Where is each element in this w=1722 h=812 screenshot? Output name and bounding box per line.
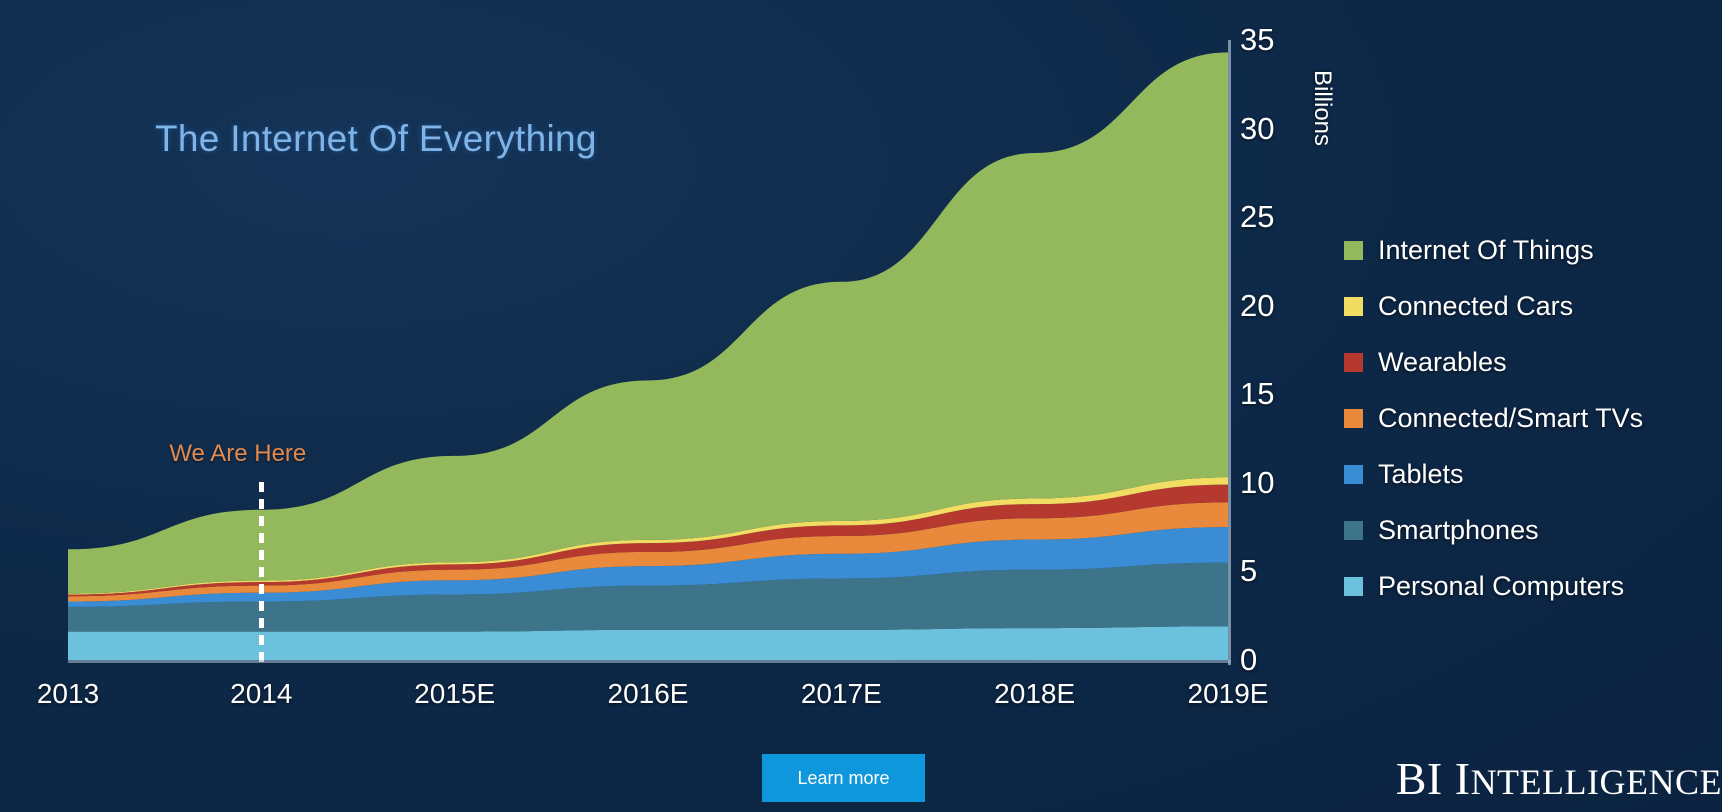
legend-item-wearables[interactable]: Wearables bbox=[1344, 334, 1714, 390]
legend-item-label: Connected/Smart TVs bbox=[1378, 403, 1643, 434]
legend-swatch-icon bbox=[1344, 577, 1363, 596]
legend-swatch-icon bbox=[1344, 521, 1363, 540]
legend-item-tablets[interactable]: Tablets bbox=[1344, 446, 1714, 502]
y-axis-tick-30: 30 bbox=[1240, 113, 1274, 144]
brand-name: NTELLIGENCE bbox=[1471, 762, 1722, 802]
legend-item-label: Tablets bbox=[1378, 459, 1464, 490]
legend-item-label: Internet Of Things bbox=[1378, 235, 1594, 266]
brand-logo: BI INTELLIGENCE bbox=[1396, 752, 1722, 805]
plot-area bbox=[68, 10, 1228, 662]
y-axis-tick-15: 15 bbox=[1240, 378, 1274, 409]
chart-legend: Internet Of ThingsConnected CarsWearable… bbox=[1344, 222, 1714, 614]
learn-more-button[interactable]: Learn more bbox=[762, 754, 925, 802]
we-are-here-marker-line bbox=[259, 482, 264, 667]
legend-item-smartphones[interactable]: Smartphones bbox=[1344, 502, 1714, 558]
legend-item-label: Smartphones bbox=[1378, 515, 1539, 546]
legend-item-label: Personal Computers bbox=[1378, 571, 1624, 602]
y-axis-tick-20: 20 bbox=[1240, 290, 1274, 321]
y-axis-tick-25: 25 bbox=[1240, 201, 1274, 232]
x-axis-tick-2014: 2014 bbox=[230, 678, 292, 710]
legend-item-label: Wearables bbox=[1378, 347, 1507, 378]
legend-item-connected-smart-tvs[interactable]: Connected/Smart TVs bbox=[1344, 390, 1714, 446]
chart-canvas: The Internet Of Everything We Are Here 0… bbox=[0, 0, 1722, 812]
y-axis-tick-5: 5 bbox=[1240, 555, 1257, 586]
y-axis-tick-10: 10 bbox=[1240, 467, 1274, 498]
we-are-here-label: We Are Here bbox=[169, 440, 306, 468]
x-axis-tick-2013: 2013 bbox=[37, 678, 99, 710]
legend-swatch-icon bbox=[1344, 353, 1363, 372]
stacked-area-svg bbox=[68, 10, 1228, 662]
brand-prefix: BI bbox=[1396, 753, 1443, 804]
legend-swatch-icon bbox=[1344, 297, 1363, 316]
x-axis-tick-2019E: 2019E bbox=[1188, 678, 1269, 710]
brand-initial: I bbox=[1455, 753, 1471, 804]
y-axis-line bbox=[1228, 40, 1231, 665]
legend-item-personal-computers[interactable]: Personal Computers bbox=[1344, 558, 1714, 614]
x-axis-line bbox=[68, 660, 1231, 663]
legend-item-connected-cars[interactable]: Connected Cars bbox=[1344, 278, 1714, 334]
y-axis-tick-35: 35 bbox=[1240, 24, 1274, 55]
legend-item-label: Connected Cars bbox=[1378, 291, 1573, 322]
x-axis-tick-2015E: 2015E bbox=[414, 678, 495, 710]
x-axis-tick-2017E: 2017E bbox=[801, 678, 882, 710]
y-axis-unit-label: Billions bbox=[1308, 70, 1336, 146]
legend-item-internet-of-things[interactable]: Internet Of Things bbox=[1344, 222, 1714, 278]
x-axis-tick-2016E: 2016E bbox=[608, 678, 689, 710]
legend-swatch-icon bbox=[1344, 465, 1363, 484]
page-title: The Internet Of Everything bbox=[155, 118, 597, 160]
y-axis-tick-0: 0 bbox=[1240, 644, 1257, 675]
legend-swatch-icon bbox=[1344, 409, 1363, 428]
x-axis-tick-2018E: 2018E bbox=[994, 678, 1075, 710]
legend-swatch-icon bbox=[1344, 241, 1363, 260]
